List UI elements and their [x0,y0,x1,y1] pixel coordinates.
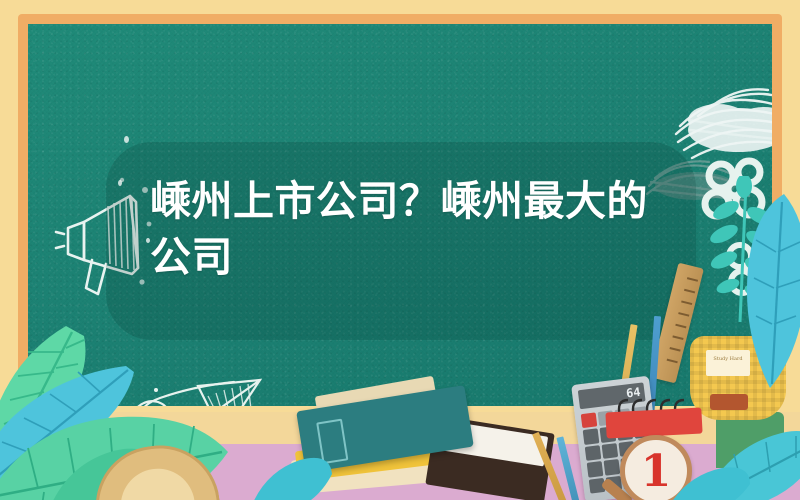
calc-key[interactable] [585,445,602,461]
bag-pocket [710,394,748,410]
small-teal-leaf-icon [664,460,754,500]
chalk-sparkle [146,238,150,243]
banner-canvas: 嵊州上市公司？嵊州最大的 公司 [0,0,800,500]
calc-key[interactable] [583,429,600,445]
desk-leaf-icon [246,452,336,500]
page-title-line2: 公司 [150,229,670,285]
tropical-leaf-icon [736,192,800,392]
calc-key[interactable] [581,412,598,428]
page-title-line1: 嵊州上市公司？嵊州最大的 [150,173,670,229]
page-title: 嵊州上市公司？嵊州最大的 公司 [150,173,670,285]
red-notepad [605,408,702,439]
calc-key[interactable] [587,461,604,477]
calc-key[interactable] [602,443,619,459]
calc-key[interactable] [604,459,621,475]
chalk-sparkle [124,136,129,143]
chalk-sparkle [118,180,122,186]
